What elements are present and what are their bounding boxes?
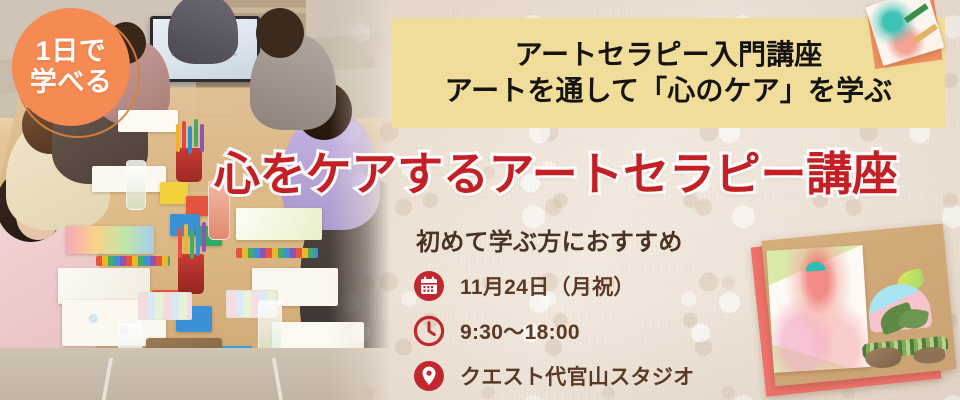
info-row-time: 9:30〜18:00 <box>413 314 773 348</box>
course-date: 11月24日（月祝） <box>460 271 635 301</box>
photo-pencils <box>178 228 182 258</box>
photo-paper <box>66 226 154 254</box>
photo-person-head <box>256 8 304 58</box>
clock-icon <box>413 315 445 347</box>
photo-pastel-set <box>96 256 170 266</box>
course-subtitle: 初めて学ぶ方におすすめ <box>416 222 773 257</box>
info-row-location: クエスト代官山スタジオ <box>413 359 773 393</box>
course-title-line-1: アートセラピー入門講座 <box>515 39 823 71</box>
course-details: 初めて学ぶ方におすすめ 11月24日（月祝） <box>413 222 773 400</box>
badge-line-1: 1日で <box>36 37 107 66</box>
photo-colored-paper <box>160 182 188 204</box>
calendar-icon <box>413 270 445 302</box>
course-venue: クエスト代官山スタジオ <box>460 361 694 391</box>
photo-pastel-set <box>236 248 318 258</box>
course-title-band: アートセラピー入門講座 アートを通して「心のケア」を学ぶ <box>392 18 945 128</box>
photo-pencils <box>176 124 180 152</box>
student-artwork-photo <box>758 232 954 400</box>
badge-disc: 1日で 学べる <box>12 8 130 126</box>
badge-line-2: 学べる <box>30 68 113 97</box>
one-day-badge: 1日で 学べる <box>12 8 140 136</box>
course-promo-banner: 1日で 学べる アートセラピー入門講座 アートを通して「心のケア」を学ぶ 心をケ… <box>0 0 960 400</box>
artwork-drawing <box>767 245 870 373</box>
photo-pen-cup <box>178 254 204 294</box>
artwork-collage <box>855 266 950 370</box>
photo-paper <box>58 268 150 304</box>
info-row-date: 11月24日（月祝） <box>413 269 773 303</box>
map-pin-icon <box>413 360 445 392</box>
course-time: 9:30〜18:00 <box>460 316 580 346</box>
artwork-photo-image <box>761 224 956 387</box>
photo-water-bottle <box>126 160 146 210</box>
photo-person <box>168 0 238 64</box>
photo-pen-cup <box>176 148 202 182</box>
main-headline: 心をケアするアートセラピー講座 <box>214 148 948 201</box>
photo-table-legs <box>18 358 374 400</box>
photo-paper <box>236 208 322 240</box>
course-title-line-2: アートを通して「心のケア」を学ぶ <box>445 75 893 107</box>
photo-paint-tray <box>138 292 192 320</box>
